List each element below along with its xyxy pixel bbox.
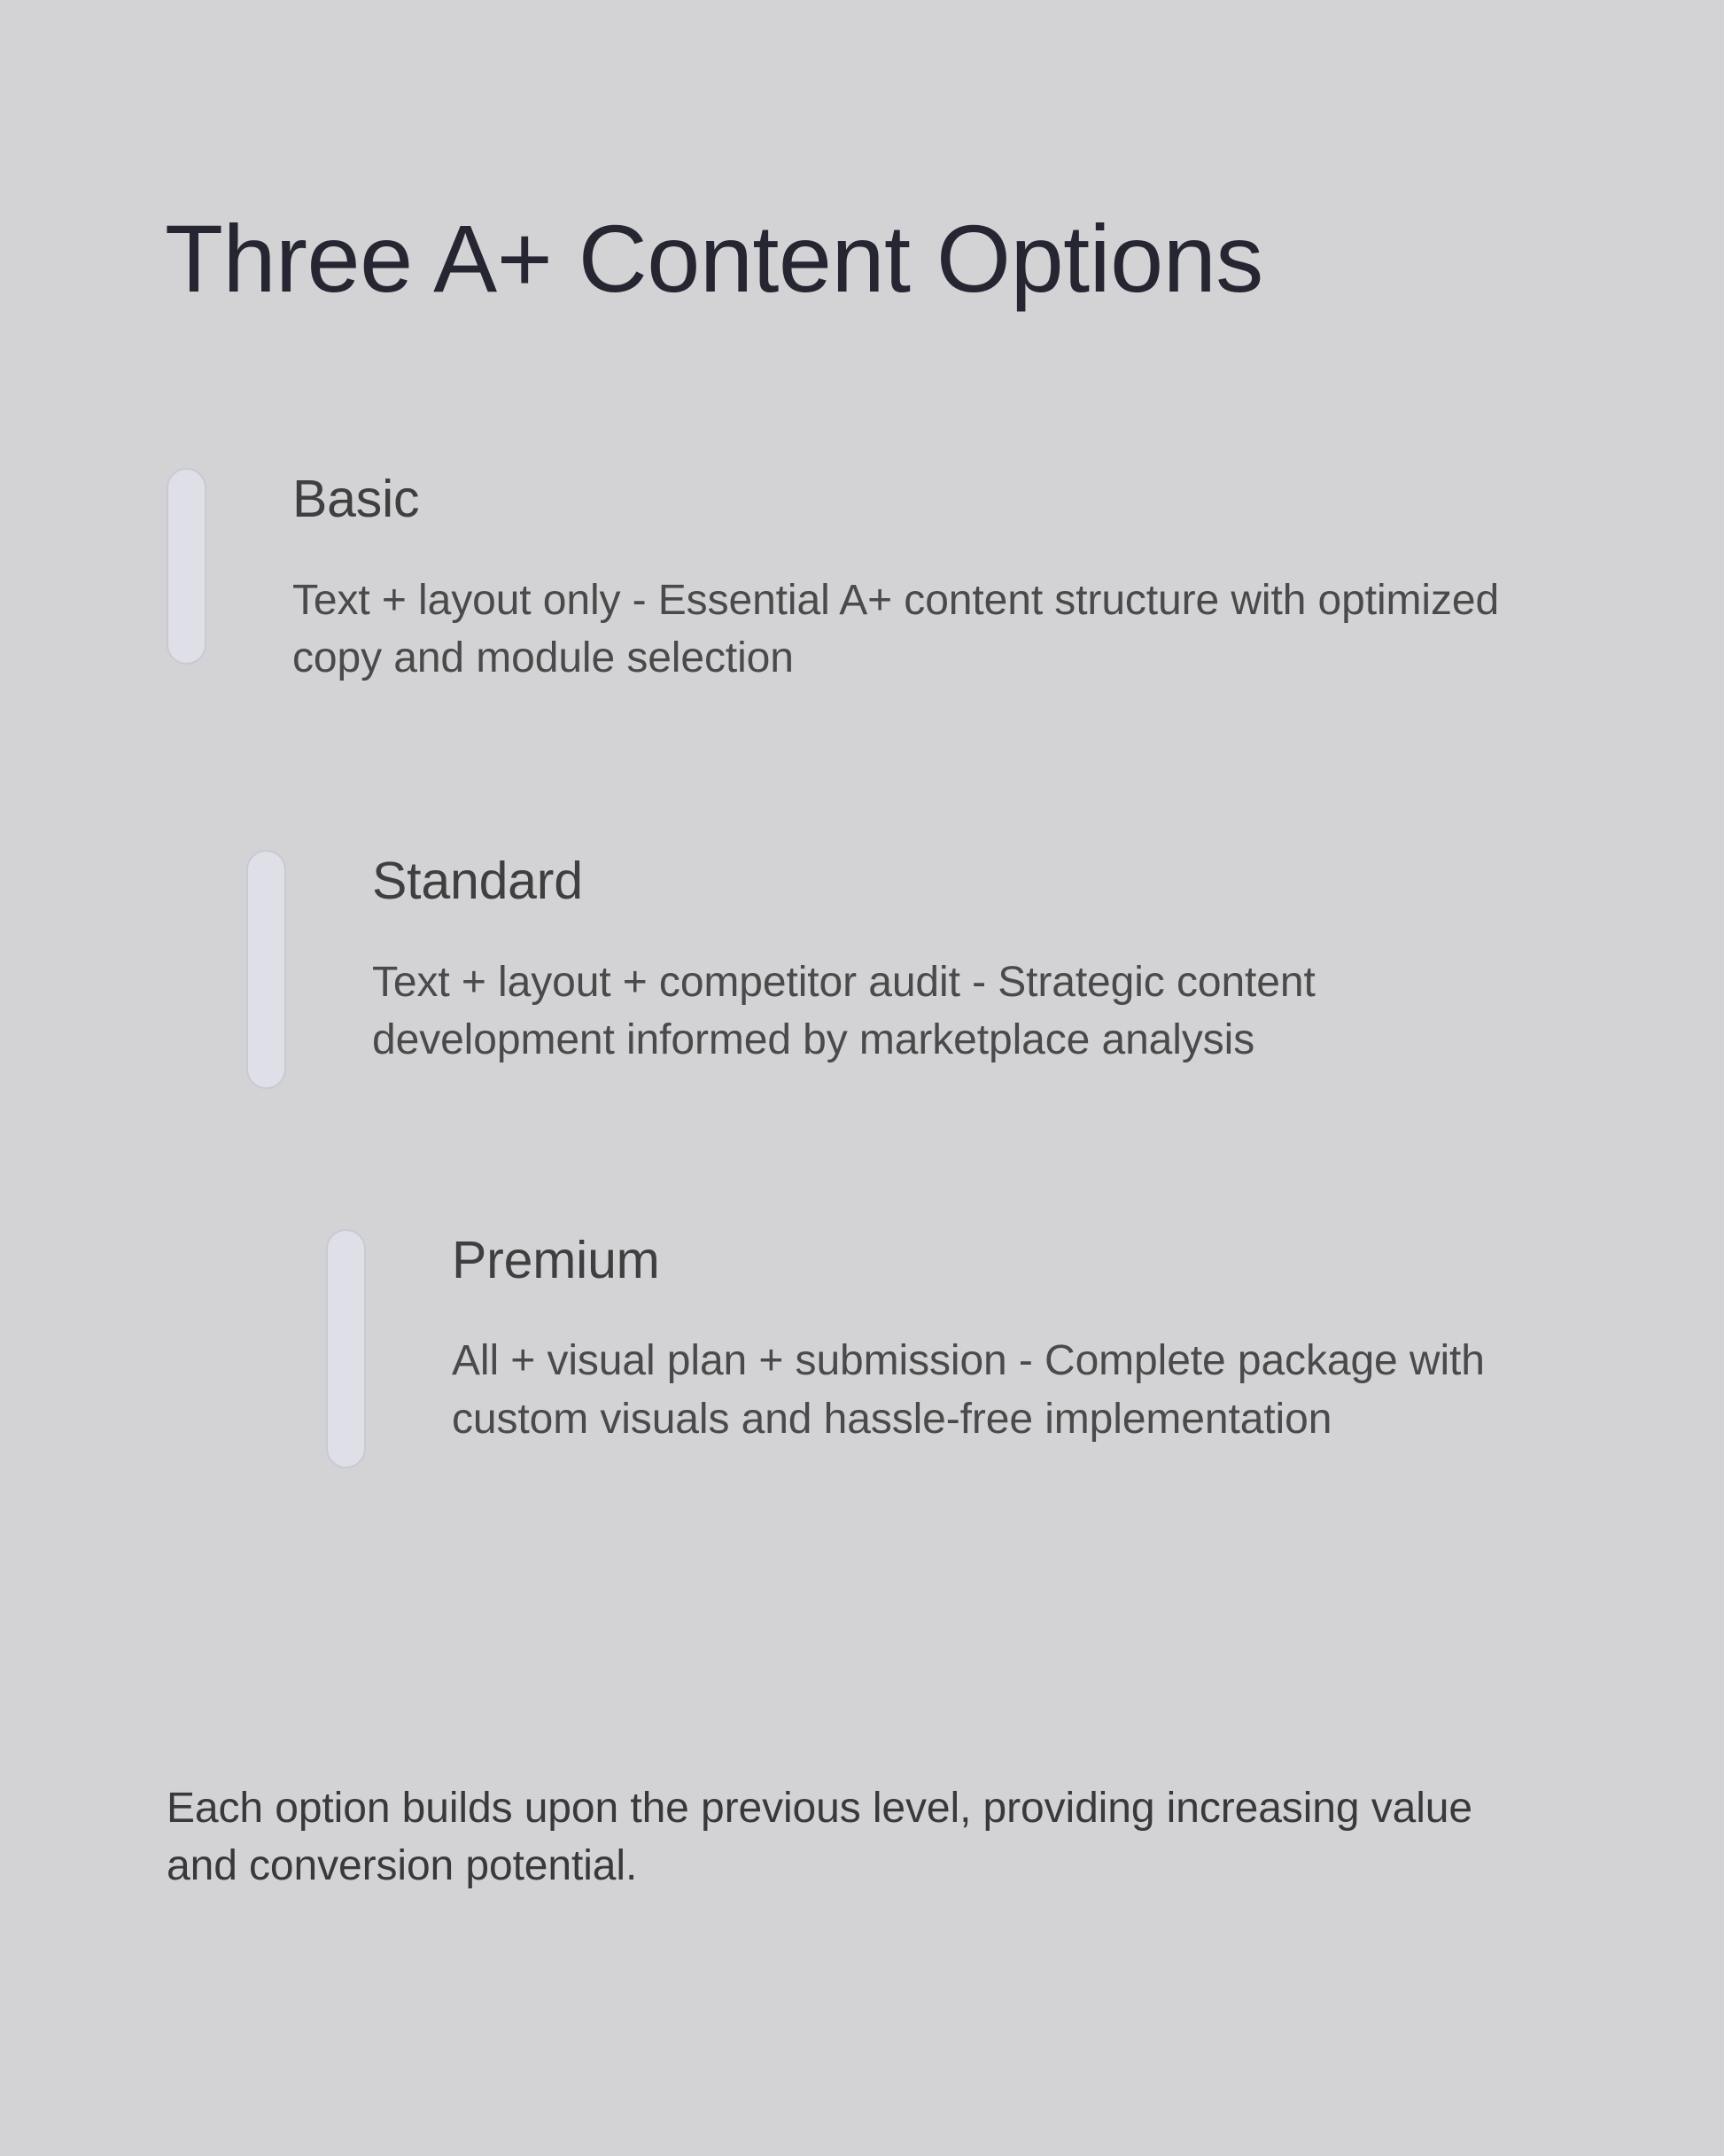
tier-description: Text + layout + competitor audit - Strat… xyxy=(372,953,1524,1070)
tier-list: Basic Text + layout only - Essential A+ … xyxy=(0,443,1724,1448)
tier-item-basic: Basic Text + layout only - Essential A+ … xyxy=(0,443,1724,687)
tier-accent-bar-icon xyxy=(246,850,286,1089)
tier-body: Standard Text + layout + competitor audi… xyxy=(372,825,1577,1069)
tier-accent-bar-icon xyxy=(326,1229,366,1468)
tier-body: Premium All + visual plan + submission -… xyxy=(452,1204,1604,1448)
tier-item-standard: Standard Text + layout + competitor audi… xyxy=(0,825,1724,1069)
slide-canvas: Three A+ Content Options Basic Text + la… xyxy=(0,0,1724,2156)
tier-body: Basic Text + layout only - Essential A+ … xyxy=(292,443,1550,687)
page-title: Three A+ Content Options xyxy=(165,202,1582,315)
tier-description: All + visual plan + submission - Complet… xyxy=(452,1332,1568,1448)
tier-item-premium: Premium All + visual plan + submission -… xyxy=(0,1204,1724,1448)
footer-note: Each option builds upon the previous lev… xyxy=(167,1779,1478,1895)
tier-name: Basic xyxy=(292,468,1550,531)
tier-name: Standard xyxy=(372,850,1577,913)
tier-description: Text + layout only - Essential A+ conten… xyxy=(292,572,1533,688)
tier-name: Premium xyxy=(452,1229,1604,1292)
tier-accent-bar-icon xyxy=(167,468,206,665)
